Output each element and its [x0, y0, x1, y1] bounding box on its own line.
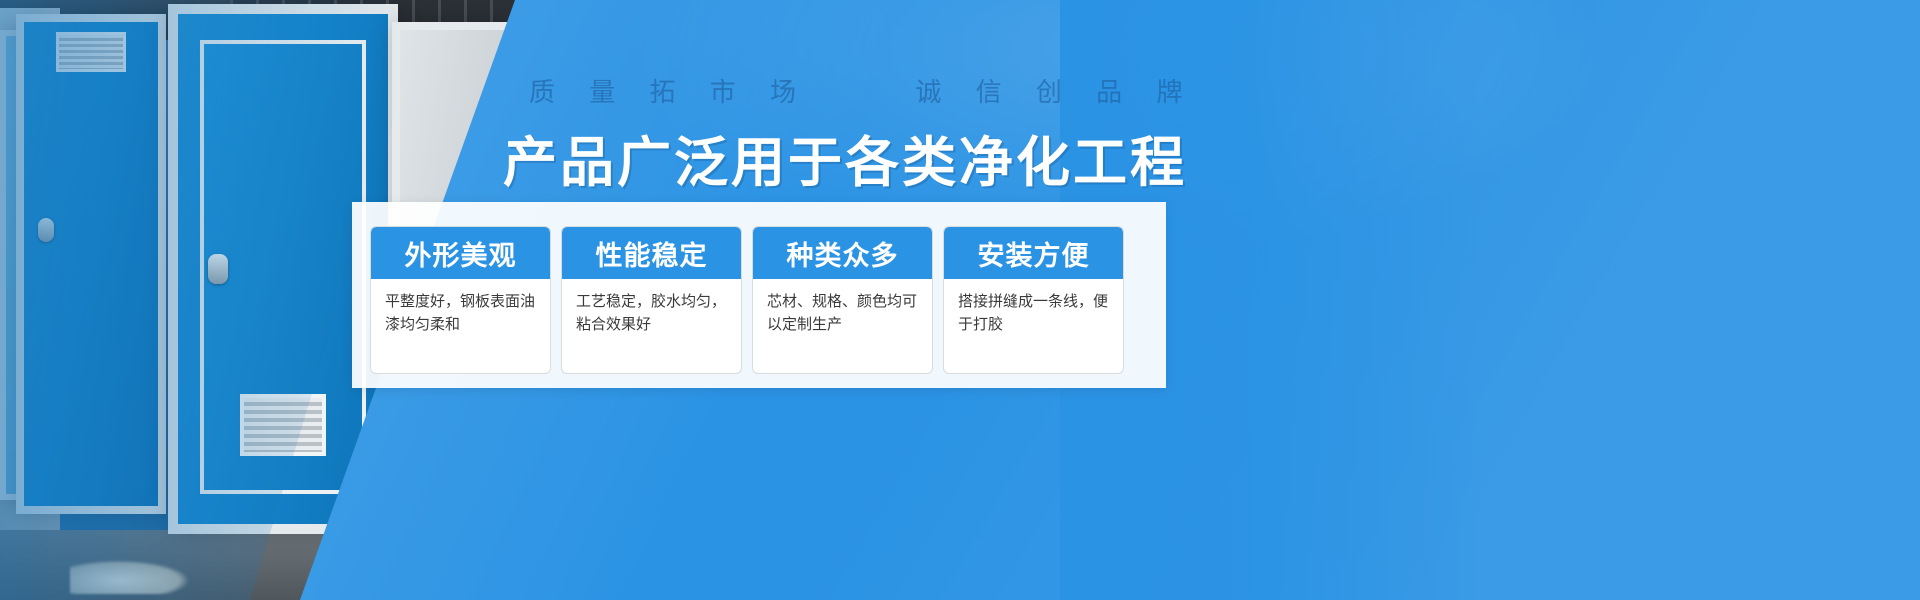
feature-card-text: 搭接拼缝成一条线，便于打胶 [944, 279, 1123, 373]
feature-card-title: 外形美观 [371, 227, 550, 279]
feature-card-text: 平整度好，钢板表面油漆均匀柔和 [371, 279, 550, 373]
feature-card-1[interactable]: 外形美观 平整度好，钢板表面油漆均匀柔和 [370, 226, 551, 374]
door-louver-vent [240, 394, 326, 456]
feature-card-title: 种类众多 [753, 227, 932, 279]
cabin-vent-top [56, 32, 126, 72]
feature-card-2[interactable]: 性能稳定 工艺稳定，胶水均匀，粘合效果好 [561, 226, 742, 374]
door-handle [208, 254, 228, 284]
promo-banner: 质 量 拓 市 场 诚 信 创 品 牌 产品广泛用于各类净化工程 外形美观 平整… [0, 0, 1920, 600]
banner-tagline: 质 量 拓 市 场 诚 信 创 品 牌 [529, 72, 1195, 109]
feature-card-4[interactable]: 安装方便 搭接拼缝成一条线，便于打胶 [943, 226, 1124, 374]
feature-card-title: 性能稳定 [562, 227, 741, 279]
feature-card-text: 工艺稳定，胶水均匀，粘合效果好 [562, 279, 741, 373]
cabin-left [16, 14, 166, 514]
feature-card-3[interactable]: 种类众多 芯材、规格、颜色均可以定制生产 [752, 226, 933, 374]
feature-card-text: 芯材、规格、颜色均可以定制生产 [753, 279, 932, 373]
feature-cards-row: 外形美观 平整度好，钢板表面油漆均匀柔和 性能稳定 工艺稳定，胶水均匀，粘合效果… [370, 226, 1124, 374]
feature-card-title: 安装方便 [944, 227, 1123, 279]
floor-debris [70, 560, 190, 594]
banner-headline: 产品广泛用于各类净化工程 [503, 118, 1187, 197]
feature-cards-panel: 外形美观 平整度好，钢板表面油漆均匀柔和 性能稳定 工艺稳定，胶水均匀，粘合效果… [352, 202, 1166, 388]
cabin-lock [38, 218, 54, 242]
